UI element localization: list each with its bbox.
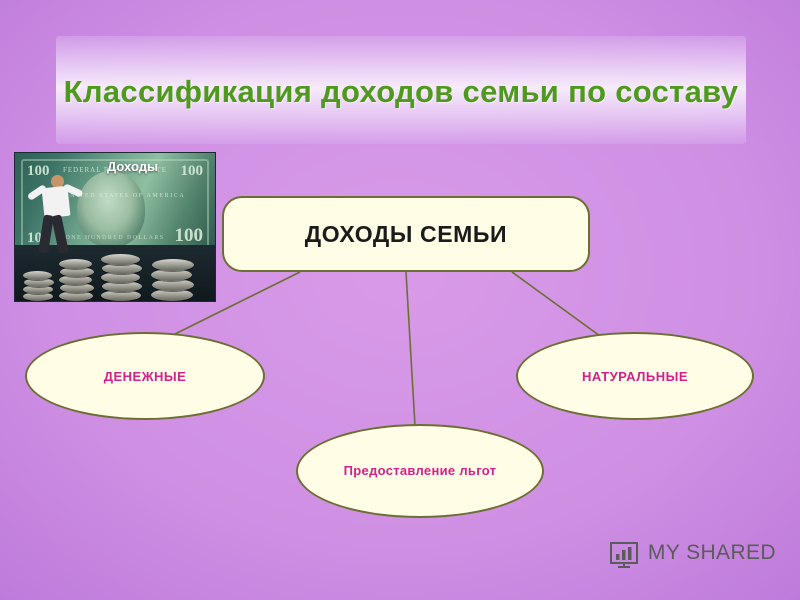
diagram-node-money[interactable]: ДЕНЕЖНЫЕ [25,332,265,420]
watermark: MY SHARED [609,538,776,568]
man-right-leg [51,214,69,253]
watermark-text: MY SHARED [648,541,776,565]
diagram-node-natural[interactable]: НАТУРАЛЬНЫЕ [516,332,754,420]
diagram-node-benefits[interactable]: Предоставление льгот [296,424,544,518]
photo-caption: Доходы [107,159,158,174]
chart-presentation-icon [609,538,639,568]
man-figure [31,175,85,259]
man-torso [42,186,71,219]
slide-canvas: Классификация доходов семьи по составу F… [0,0,800,600]
diagram-node-root[interactable]: ДОХОДЫ СЕМЬИ [222,196,590,272]
